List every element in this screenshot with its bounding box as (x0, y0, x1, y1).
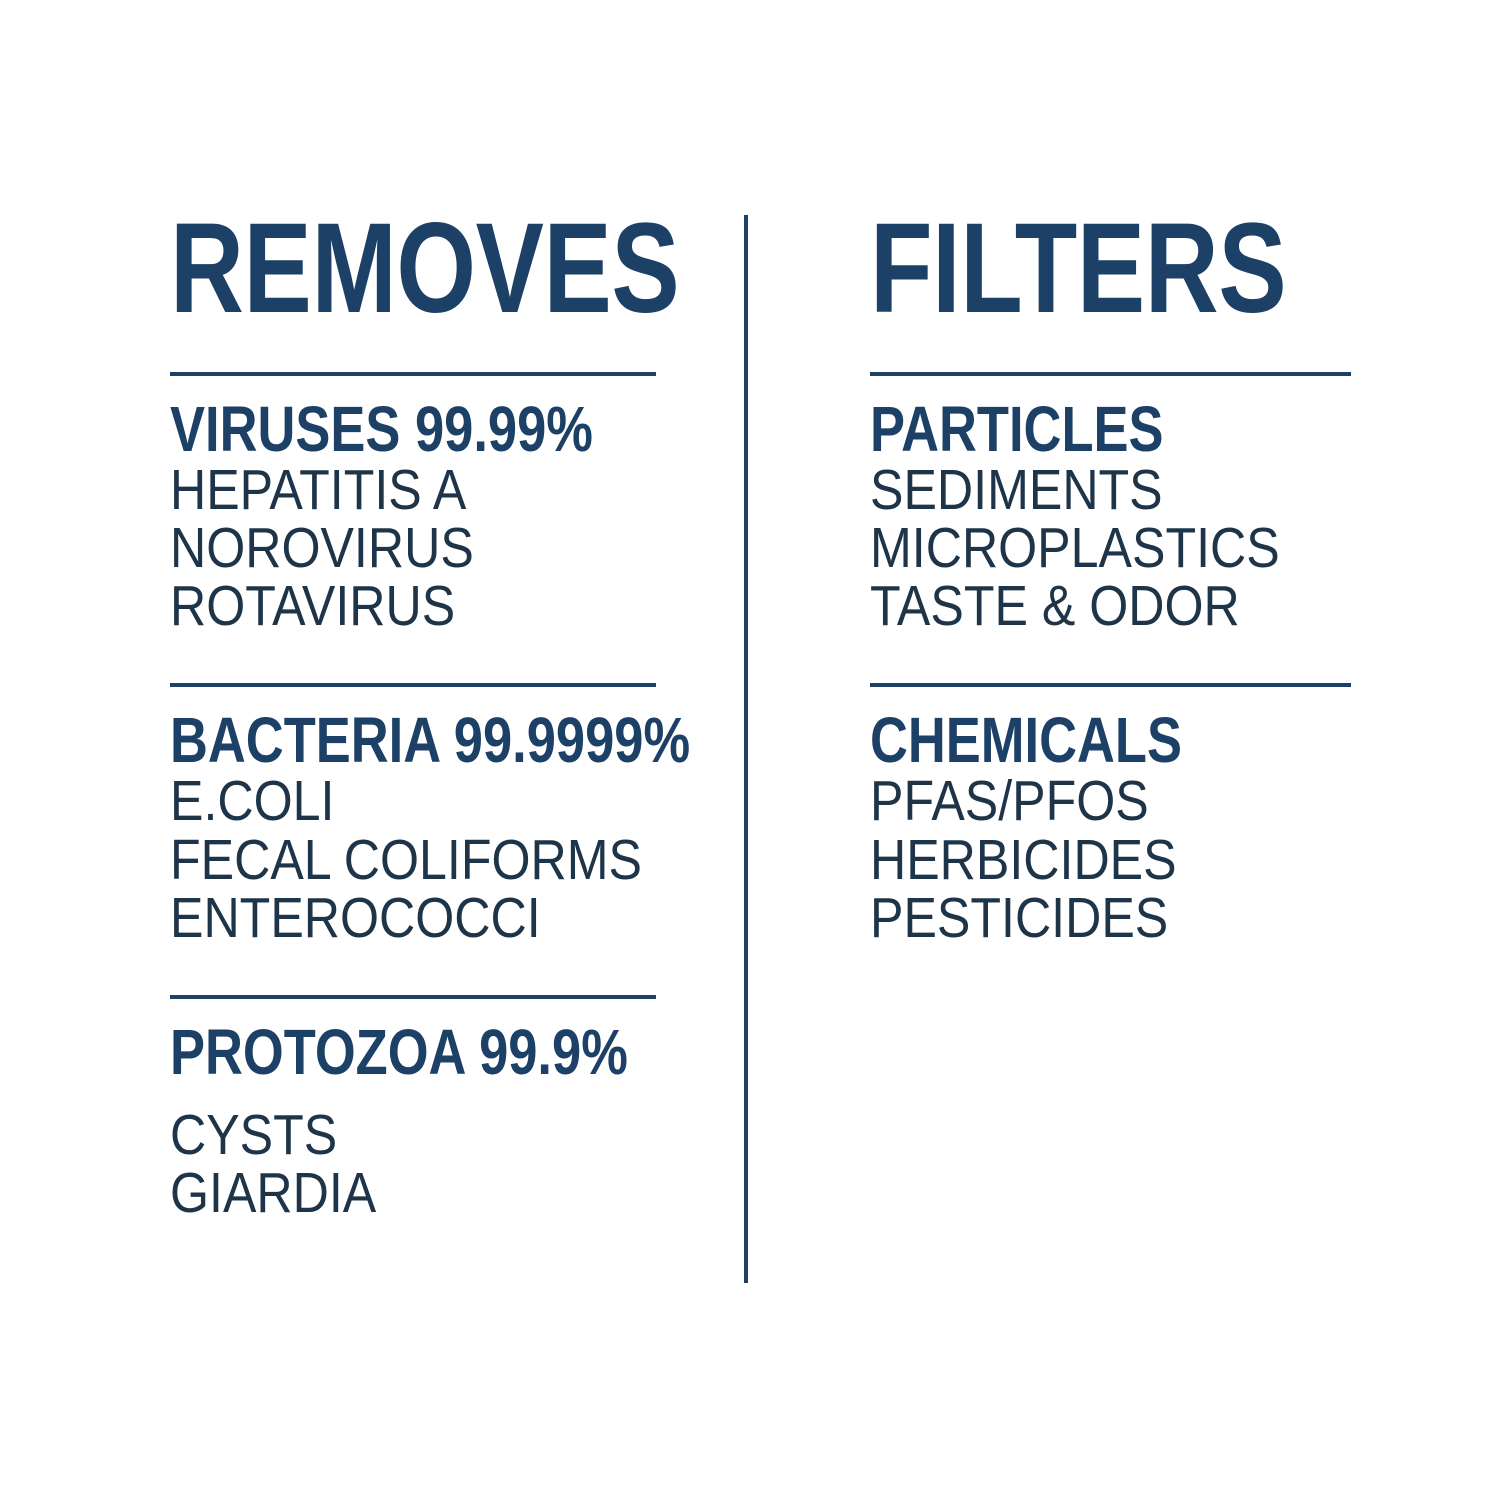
group-viruses: VIRUSES 99.99% HEPATITIS A NOROVIRUS ROT… (170, 376, 656, 635)
group-bacteria: BACTERIA 99.9999% E.COLI FECAL COLIFORMS… (170, 687, 656, 946)
group-header-protozoa: PROTOZOA 99.9% (170, 999, 569, 1084)
group-items-protozoa: CYSTS GIARDIA (170, 1084, 656, 1222)
list-item: HEPATITIS A (170, 461, 598, 519)
group-header-particles: PARTICLES (870, 376, 1264, 461)
list-item: CYSTS (170, 1106, 598, 1164)
list-item: MICROPLASTICS (870, 519, 1293, 577)
list-item: PFAS/PFOS (870, 772, 1293, 830)
column-removes: REMOVES VIRUSES 99.99% HEPATITIS A NOROV… (170, 214, 656, 1222)
group-chemicals: CHEMICALS PFAS/PFOS HERBICIDES PESTICIDE… (870, 687, 1351, 946)
group-items-bacteria: E.COLI FECAL COLIFORMS ENTEROCOCCI (170, 772, 656, 946)
list-item: SEDIMENTS (870, 461, 1293, 519)
column-title-removes: REMOVES (170, 214, 559, 324)
list-item: ENTEROCOCCI (170, 889, 598, 947)
list-item: E.COLI (170, 772, 598, 830)
column-title-filters: FILTERS (870, 214, 1255, 324)
group-header-bacteria: BACTERIA 99.9999% (170, 687, 569, 772)
list-item: PESTICIDES (870, 889, 1293, 947)
list-item: TASTE & ODOR (870, 577, 1293, 635)
infographic-page: REMOVES VIRUSES 99.99% HEPATITIS A NOROV… (0, 0, 1500, 1500)
column-filters: FILTERS PARTICLES SEDIMENTS MICROPLASTIC… (870, 214, 1351, 947)
group-items-viruses: HEPATITIS A NOROVIRUS ROTAVIRUS (170, 461, 656, 635)
list-item: NOROVIRUS (170, 519, 598, 577)
group-header-viruses: VIRUSES 99.99% (170, 376, 569, 461)
group-header-chemicals: CHEMICALS (870, 687, 1264, 772)
column-divider (744, 215, 748, 1283)
list-item: GIARDIA (170, 1164, 598, 1222)
list-item: FECAL COLIFORMS (170, 831, 598, 889)
list-item: ROTAVIRUS (170, 577, 598, 635)
group-items-chemicals: PFAS/PFOS HERBICIDES PESTICIDES (870, 772, 1351, 946)
group-particles: PARTICLES SEDIMENTS MICROPLASTICS TASTE … (870, 376, 1351, 635)
group-protozoa: PROTOZOA 99.9% CYSTS GIARDIA (170, 999, 656, 1222)
list-item: HERBICIDES (870, 831, 1293, 889)
group-items-particles: SEDIMENTS MICROPLASTICS TASTE & ODOR (870, 461, 1351, 635)
